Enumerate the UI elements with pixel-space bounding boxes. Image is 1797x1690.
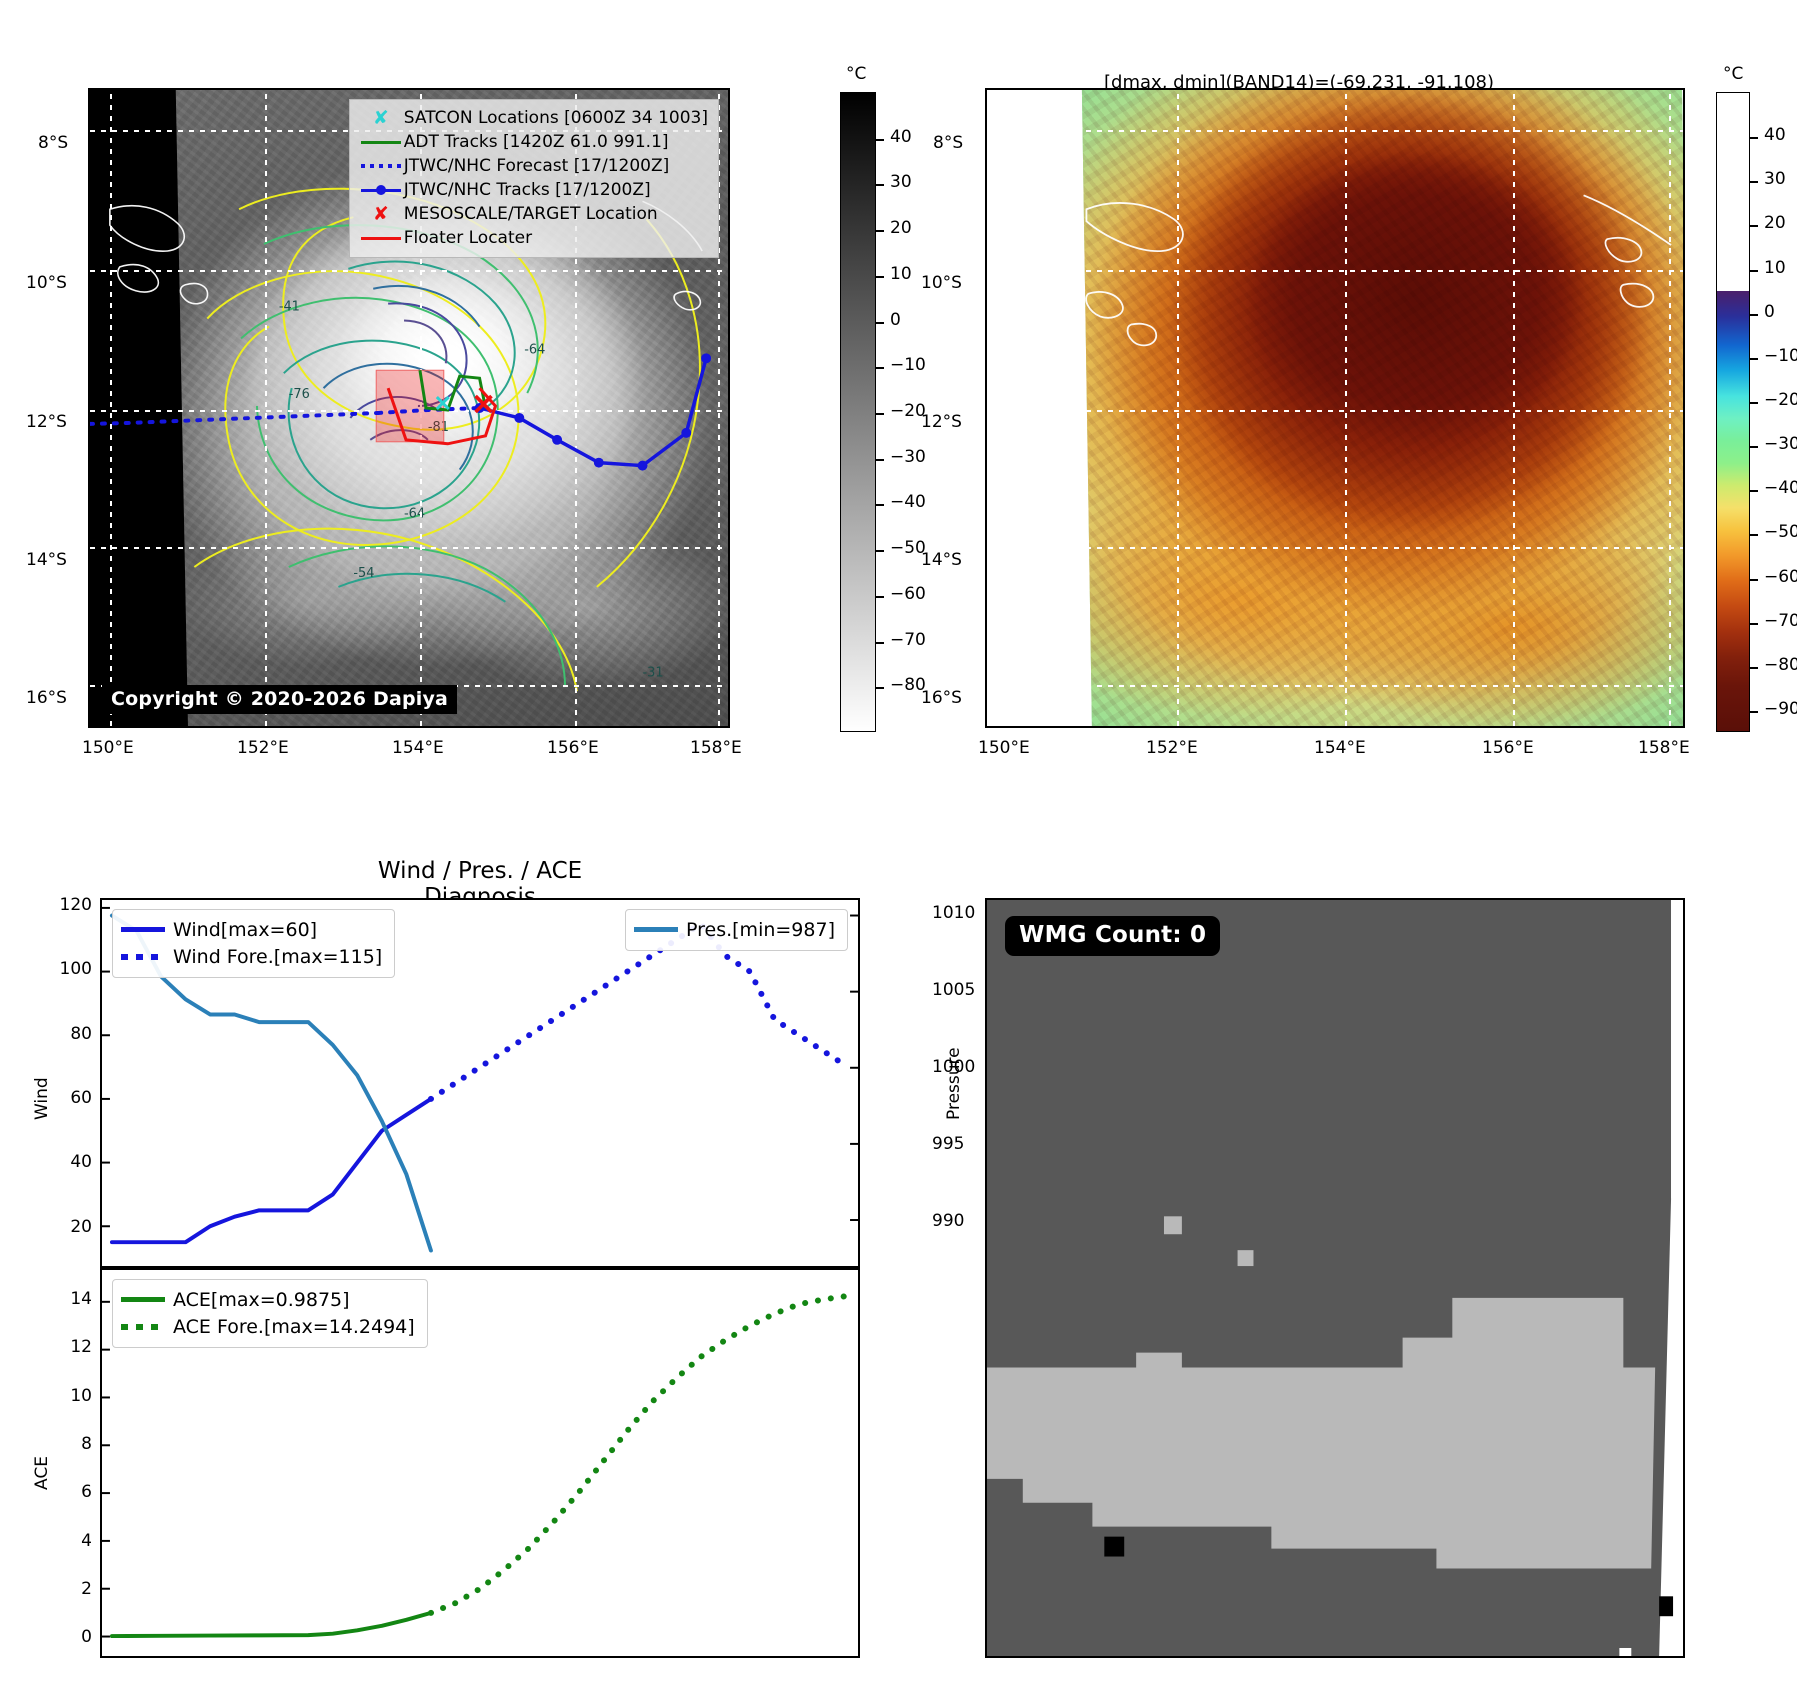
axis-ticklabel: 40 — [32, 1152, 92, 1172]
line-with-dot-icon — [358, 189, 404, 192]
legend-label: JTWC/NHC Tracks [17/1200Z] — [404, 180, 651, 200]
axis-ticklabel: 2 — [32, 1579, 92, 1599]
legend-label: Floater Locater — [404, 228, 532, 248]
colorbar-ticklabel: −40 — [890, 492, 926, 512]
ace-chart[interactable]: ACE[max=0.9875] ACE Fore.[max=14.2494] — [100, 1268, 860, 1658]
axis-ticklabel: 1010 — [932, 903, 975, 923]
axis-ticklabel: 80 — [32, 1024, 92, 1044]
legend-item-floater-locater: Floater Locater — [358, 226, 708, 250]
colorbar-ticklabel: −30 — [1764, 434, 1797, 454]
lon-tick-152e: 152°E — [1146, 738, 1198, 758]
colorbar-ticklabel: −20 — [890, 401, 926, 421]
colorbar-ticklabel: 10 — [890, 264, 912, 284]
legend-item-ace: ACE[max=0.9875] — [121, 1286, 415, 1313]
x-marker-icon: ✘ — [358, 109, 404, 128]
legend-item-wind: Wind[max=60] — [121, 916, 382, 943]
legend-item-jtwc-forecast: JTWC/NHC Forecast [17/1200Z] — [358, 154, 708, 178]
axis-ticklabel: 990 — [932, 1211, 964, 1231]
lon-tick-154e: 154°E — [392, 738, 444, 758]
colorbar-tick — [1749, 358, 1758, 360]
colorbar-tick — [875, 139, 884, 141]
colorbar-ticklabel: −40 — [1764, 478, 1797, 498]
x-marker-icon: ✘ — [358, 205, 404, 224]
pressure-legend: Pres.[min=987] — [625, 909, 848, 951]
colorbar-ticklabel: 0 — [1764, 302, 1775, 322]
colorbar-tick — [875, 504, 884, 506]
axis-ticklabel: 0 — [32, 1627, 92, 1647]
axis-ticklabel: 14 — [32, 1289, 92, 1309]
axis-ticklabel: 1005 — [932, 980, 975, 1000]
legend-item-satcon: ✘ SATCON Locations [0600Z 34 1003] — [358, 106, 708, 130]
colorbar-tick — [875, 596, 884, 598]
colorbar-tick — [1749, 623, 1758, 625]
legend-item-adt-tracks: ADT Tracks [1420Z 61.0 991.1] — [358, 130, 708, 154]
colorbar-ticklabel: −60 — [1764, 567, 1797, 587]
series-0 — [112, 1613, 431, 1636]
lat-tick-12s: 12°S — [921, 412, 962, 432]
colorbar-tick — [1749, 225, 1758, 227]
colorbar-tick — [875, 276, 884, 278]
copyright-badge: Copyright © 2020-2026 Dapiya — [102, 685, 457, 714]
axis-ticklabel: 6 — [32, 1482, 92, 1502]
colorbar-tick — [1749, 270, 1758, 272]
solid-line-icon — [121, 927, 173, 932]
series-1 — [431, 1296, 848, 1613]
legend-label: SATCON Locations [0600Z 34 1003] — [404, 108, 708, 128]
lat-tick-12s: 12°S — [26, 412, 67, 432]
axis-ticklabel: 100 — [32, 959, 92, 979]
colorbar-ticklabel: 20 — [890, 218, 912, 238]
colorbar-ticklabel: −80 — [890, 675, 926, 695]
dotted-line-icon — [358, 164, 404, 168]
legend-label: ADT Tracks [1420Z 61.0 991.1] — [404, 132, 669, 152]
solid-line-icon — [634, 927, 686, 932]
wmg-mask-image — [987, 900, 1683, 1656]
colorbar-tick — [1749, 667, 1758, 669]
colorbar-tick — [875, 550, 884, 552]
colorbar-ticklabel: 0 — [890, 310, 901, 330]
band14-ir-map[interactable]: -76 -81 -64 -64 -54 -41 -31 -31 — [88, 88, 730, 728]
jtwc-observed-track — [480, 358, 707, 465]
legend-label: Wind Fore.[max=115] — [173, 946, 382, 968]
colorbar-tick — [1749, 402, 1758, 404]
axis-ticklabel: 20 — [32, 1217, 92, 1237]
colorbar-tick — [1749, 711, 1758, 713]
colorbar-tick — [1749, 579, 1758, 581]
colorbar-ticklabel: 40 — [1764, 125, 1786, 145]
axis-ticklabel: 1000 — [932, 1057, 975, 1077]
legend-label: MESOSCALE/TARGET Location — [404, 204, 658, 224]
lon-tick-152e: 152°E — [237, 738, 289, 758]
colorbar-ticklabel: −50 — [890, 538, 926, 558]
legend-item-mesoscale-target: ✘ MESOSCALE/TARGET Location — [358, 202, 708, 226]
legend-label: Wind[max=60] — [173, 919, 317, 941]
jtwc-track-points — [475, 353, 712, 470]
legend-item-pressure: Pres.[min=987] — [634, 916, 835, 943]
colorbar-tick — [1749, 490, 1758, 492]
wmg-count-badge: WMG Count: 0 — [1005, 916, 1220, 956]
colorbar-tick — [1749, 137, 1758, 139]
axis-ticklabel: 4 — [32, 1531, 92, 1551]
ace-legend: ACE[max=0.9875] ACE Fore.[max=14.2494] — [112, 1279, 428, 1348]
colorbar-ticklabel: −30 — [890, 447, 926, 467]
awv-coastline-overlay — [987, 90, 1683, 726]
lat-tick-10s: 10°S — [26, 273, 67, 293]
lon-tick-150e: 150°E — [978, 738, 1030, 758]
colorbar-right — [1716, 92, 1750, 732]
dashboard-root: HIMAWARI-9 BAND14-DIAS TARGET AREA Time:… — [0, 0, 1797, 1690]
colorbar-ticklabel: −20 — [1764, 390, 1797, 410]
colorbar-tick — [875, 367, 884, 369]
legend-label: ACE Fore.[max=14.2494] — [173, 1316, 415, 1338]
lat-tick-16s: 16°S — [921, 688, 962, 708]
colorbar-unit-right: °C — [1723, 64, 1743, 84]
legend-item-ace-forecast: ACE Fore.[max=14.2494] — [121, 1313, 415, 1340]
legend-label: ACE[max=0.9875] — [173, 1289, 350, 1311]
colorbar-unit-left: °C — [846, 64, 866, 84]
target-box — [376, 370, 444, 442]
lon-tick-150e: 150°E — [82, 738, 134, 758]
dotted-line-icon — [121, 1324, 173, 1330]
colorbar-ticklabel: 30 — [1764, 169, 1786, 189]
legend-label: JTWC/NHC Forecast [17/1200Z] — [404, 156, 669, 176]
colorbar-tick — [1749, 534, 1758, 536]
awv-enhanced-map[interactable] — [985, 88, 1685, 728]
legend-label: Pres.[min=987] — [686, 919, 835, 941]
wmg-panel[interactable]: WMG Count: 0 — [985, 898, 1685, 1658]
lat-tick-10s: 10°S — [921, 273, 962, 293]
colorbar-left — [840, 92, 876, 732]
colorbar-tick — [875, 459, 884, 461]
lon-tick-158e: 158°E — [1638, 738, 1690, 758]
lon-tick-156e: 156°E — [547, 738, 599, 758]
colorbar-tick — [875, 642, 884, 644]
lat-tick-8s: 8°S — [38, 133, 68, 153]
colorbar-tick — [1749, 314, 1758, 316]
legend-item-jtwc-tracks: JTWC/NHC Tracks [17/1200Z] — [358, 178, 708, 202]
lat-tick-8s: 8°S — [933, 133, 963, 153]
axis-ticklabel: 995 — [932, 1134, 964, 1154]
lon-tick-158e: 158°E — [690, 738, 742, 758]
colorbar-ticklabel: −70 — [1764, 611, 1797, 631]
axis-ticklabel: 8 — [32, 1434, 92, 1454]
colorbar-tick — [875, 413, 884, 415]
axis-ticklabel: 10 — [32, 1386, 92, 1406]
wind-legend: Wind[max=60] Wind Fore.[max=115] — [112, 909, 395, 978]
solid-line-icon — [358, 141, 404, 144]
colorbar-tick — [1749, 446, 1758, 448]
colorbar-ticklabel: −10 — [890, 355, 926, 375]
lat-tick-16s: 16°S — [26, 688, 67, 708]
colorbar-ticklabel: 30 — [890, 172, 912, 192]
dotted-line-icon — [121, 954, 173, 960]
colorbar-tick — [875, 687, 884, 689]
wind-pressure-chart[interactable]: Wind[max=60] Wind Fore.[max=115] Pres.[m… — [100, 898, 860, 1268]
colorbar-ticklabel: 20 — [1764, 213, 1786, 233]
lat-tick-14s: 14°S — [921, 550, 962, 570]
legend-item-wind-forecast: Wind Fore.[max=115] — [121, 943, 382, 970]
lon-tick-154e: 154°E — [1314, 738, 1366, 758]
axis-ticklabel: 12 — [32, 1337, 92, 1357]
jtwc-forecast-track — [90, 413, 378, 424]
colorbar-ticklabel: −90 — [1764, 699, 1797, 719]
colorbar-ticklabel: 10 — [1764, 258, 1786, 278]
colorbar-ticklabel: −60 — [890, 584, 926, 604]
colorbar-ticklabel: −10 — [1764, 346, 1797, 366]
solid-line-icon — [121, 1297, 173, 1302]
colorbar-ticklabel: 40 — [890, 127, 912, 147]
colorbar-tick — [875, 184, 884, 186]
axis-ticklabel: 120 — [32, 895, 92, 915]
colorbar-ticklabel: −80 — [1764, 655, 1797, 675]
lon-tick-156e: 156°E — [1482, 738, 1534, 758]
solid-line-icon — [358, 237, 404, 240]
colorbar-ticklabel: −70 — [890, 630, 926, 650]
colorbar-tick — [875, 230, 884, 232]
lat-tick-14s: 14°S — [26, 550, 67, 570]
colorbar-ticklabel: −50 — [1764, 522, 1797, 542]
map-legend: ✘ SATCON Locations [0600Z 34 1003] ADT T… — [349, 99, 719, 258]
axis-ticklabel: 60 — [32, 1088, 92, 1108]
colorbar-tick — [875, 322, 884, 324]
colorbar-tick — [1749, 181, 1758, 183]
